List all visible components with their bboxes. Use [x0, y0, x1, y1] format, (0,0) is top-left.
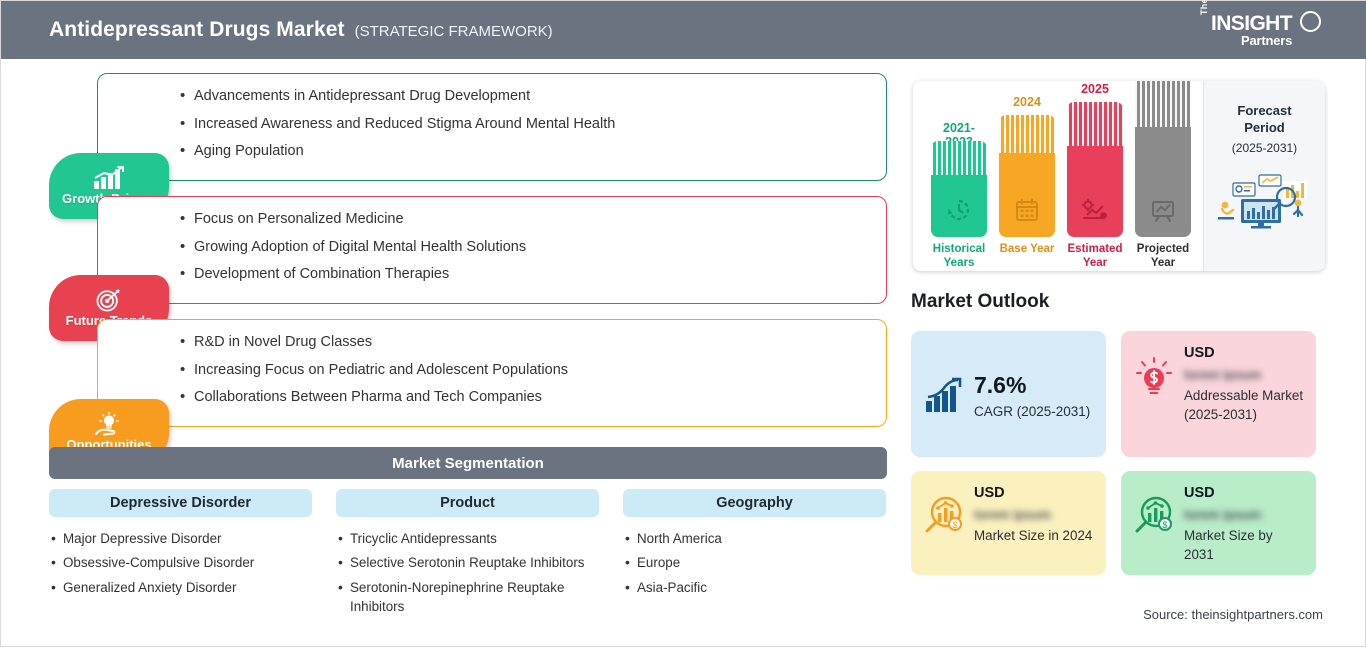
- magnifier-bars-dollar-icon: $: [923, 485, 965, 535]
- market-segmentation-columns: Depressive Disorder Product Geography Ma…: [49, 489, 887, 622]
- market-outlook-title: Market Outlook: [911, 291, 1049, 313]
- opportunities-panel: R&D in Novel Drug Classes Increasing Foc…: [97, 319, 887, 427]
- list-item: Increasing Focus on Pediatric and Adoles…: [194, 362, 886, 379]
- bar-tick-label: 2025: [1067, 82, 1123, 96]
- bar-chart-growth-icon: [92, 166, 126, 190]
- redacted-amount: lorem ipsum: [1184, 367, 1304, 382]
- chart-bars-area: 2021-2023 Historical Years: [913, 81, 1203, 271]
- infographic-page: Antidepressant Drugs Market (STRATEGIC F…: [0, 0, 1366, 647]
- list-item: Aging Population: [194, 143, 886, 160]
- insight-partners-logo: The INSIGHT Partners: [1199, 9, 1319, 53]
- segment-list-geography: North America Europe Asia-Pacific: [623, 529, 886, 622]
- bar-group-historical: 2021-2023 Historical Years: [931, 141, 987, 237]
- bar-group-base: 2024: [999, 115, 1055, 237]
- page-subtitle: (STRATEGIC FRAMEWORK): [355, 23, 553, 40]
- forecast-years: (2025-2031): [1232, 141, 1297, 155]
- bar-group-projected: 2031 Projected Year: [1135, 81, 1191, 237]
- svg-text:$: $: [1162, 520, 1167, 530]
- segment-list-product: Tricyclic Antidepressants Selective Sero…: [336, 529, 599, 622]
- cagr-caption: CAGR (2025-2031): [974, 404, 1094, 419]
- segmentation-body-row: Major Depressive Disorder Obsessive-Comp…: [49, 529, 887, 622]
- source-attribution: Source: theinsightpartners.com: [1143, 607, 1323, 622]
- forecast-gear-chart-icon: [1081, 197, 1109, 228]
- logo-partners-text: Partners: [1241, 33, 1292, 48]
- bar-category-label: Estimated Year: [1060, 243, 1130, 270]
- bar-projected-year: [1135, 81, 1191, 237]
- card-market-size-2024: $ USD lorem ipsum Market Size in 2024: [911, 471, 1106, 575]
- history-clock-icon: [946, 197, 972, 228]
- calendar-icon: [1014, 197, 1040, 228]
- bar-group-estimated: 2025 Estimated: [1067, 102, 1123, 237]
- svg-text:$: $: [952, 520, 957, 530]
- forecast-period-panel: Forecast Period (2025-2031): [1203, 81, 1325, 271]
- card-market-size-2031-text: USD lorem ipsum Market Size by 2031: [1184, 485, 1304, 564]
- page-header: Antidepressant Drugs Market (STRATEGIC F…: [1, 1, 1366, 59]
- magnifier-bars-dollar-icon: $: [1133, 485, 1175, 535]
- list-item: Collaborations Between Pharma and Tech C…: [194, 389, 886, 406]
- card-addressable-text: USD lorem ipsum Addressable Market (2025…: [1184, 345, 1304, 424]
- currency-label: USD: [974, 485, 1094, 501]
- list-item: Asia-Pacific: [637, 578, 886, 597]
- market-segmentation-header: Market Segmentation: [49, 447, 887, 479]
- list-item: Selective Serotonin Reuptake Inhibitors: [350, 553, 599, 572]
- list-item: Advancements in Antidepressant Drug Deve…: [194, 88, 886, 105]
- forecast-period-chart: 2021-2023 Historical Years: [913, 81, 1325, 271]
- list-item: Europe: [637, 553, 886, 572]
- bar-category-label: Historical Years: [924, 243, 994, 270]
- card-row-bottom: $ USD lorem ipsum Market Size in 2024: [911, 471, 1331, 575]
- list-item: Focus on Personalized Medicine: [194, 211, 886, 228]
- segmentation-header-row: Depressive Disorder Product Geography: [49, 489, 887, 517]
- list-item: Serotonin-Norepinephrine Reuptake Inhibi…: [350, 578, 599, 617]
- logo-the-text: The: [1199, 0, 1209, 15]
- segment-list-depressive-disorder: Major Depressive Disorder Obsessive-Comp…: [49, 529, 312, 622]
- currency-label: USD: [1184, 485, 1304, 501]
- right-column: 2021-2023 Historical Years: [901, 59, 1366, 648]
- target-dart-icon: [94, 288, 124, 312]
- bar-historical: [931, 141, 987, 237]
- list-item: R&D in Novel Drug Classes: [194, 334, 886, 351]
- list-item: Major Depressive Disorder: [63, 529, 312, 548]
- list-item: Growing Adoption of Digital Mental Healt…: [194, 239, 886, 256]
- logo-ring-icon: [1300, 11, 1321, 32]
- redacted-amount: lorem ipsum: [1184, 507, 1304, 522]
- bar-category-label: Projected Year: [1128, 243, 1198, 270]
- card-addressable-market: USD lorem ipsum Addressable Market (2025…: [1121, 331, 1316, 457]
- forecast-title-line2: Period: [1244, 120, 1284, 137]
- segment-header-product: Product: [336, 489, 599, 517]
- future-trends-list: Focus on Personalized Medicine Growing A…: [98, 197, 886, 283]
- card-market-size-2024-text: USD lorem ipsum Market Size in 2024: [974, 485, 1094, 545]
- cagr-value: 7.6%: [974, 373, 1094, 398]
- market-outlook-cards: 7.6% CAGR (2025-2031): [911, 331, 1331, 589]
- redacted-amount: lorem ipsum: [974, 507, 1094, 522]
- bar-chart-arrow-icon: [923, 377, 965, 415]
- bar-category-label: Base Year: [992, 243, 1062, 257]
- bar-estimated-year: [1067, 102, 1123, 237]
- bar-tick-label: 2024: [999, 95, 1055, 109]
- currency-label: USD: [1184, 345, 1304, 361]
- card-caption: Market Size in 2024: [974, 526, 1094, 545]
- card-cagr-text: 7.6% CAGR (2025-2031): [974, 373, 1094, 418]
- future-trends-panel: Focus on Personalized Medicine Growing A…: [97, 196, 887, 304]
- forecast-title-line1: Forecast: [1237, 103, 1291, 120]
- list-item: Development of Combination Therapies: [194, 266, 886, 283]
- left-column: Advancements in Antidepressant Drug Deve…: [1, 59, 901, 648]
- hand-lightbulb-icon: [93, 412, 125, 436]
- growth-drivers-list: Advancements in Antidepressant Drug Deve…: [98, 74, 886, 160]
- lightbulb-dollar-icon: [1133, 345, 1175, 399]
- segment-header-depressive-disorder: Depressive Disorder: [49, 489, 312, 517]
- card-caption: Addressable Market (2025-2031): [1184, 386, 1304, 424]
- list-item: North America: [637, 529, 886, 548]
- page-title: Antidepressant Drugs Market: [49, 18, 345, 42]
- bar-base-year: [999, 115, 1055, 237]
- business-analytics-illustration: [1213, 169, 1317, 236]
- list-item: Tricyclic Antidepressants: [350, 529, 599, 548]
- list-item: Generalized Anxiety Disorder: [63, 578, 312, 597]
- list-item: Increased Awareness and Reduced Stigma A…: [194, 116, 886, 133]
- growth-drivers-panel: Advancements in Antidepressant Drug Deve…: [97, 73, 887, 181]
- presentation-chart-icon: [1149, 197, 1177, 228]
- card-market-size-2031: $ USD lorem ipsum Market Size by 2031: [1121, 471, 1316, 575]
- card-caption: Market Size by 2031: [1184, 526, 1304, 564]
- card-cagr: 7.6% CAGR (2025-2031): [911, 331, 1106, 457]
- segment-header-geography: Geography: [623, 489, 886, 517]
- card-row-top: 7.6% CAGR (2025-2031): [911, 331, 1331, 457]
- opportunities-list: R&D in Novel Drug Classes Increasing Foc…: [98, 320, 886, 406]
- list-item: Obsessive-Compulsive Disorder: [63, 553, 312, 572]
